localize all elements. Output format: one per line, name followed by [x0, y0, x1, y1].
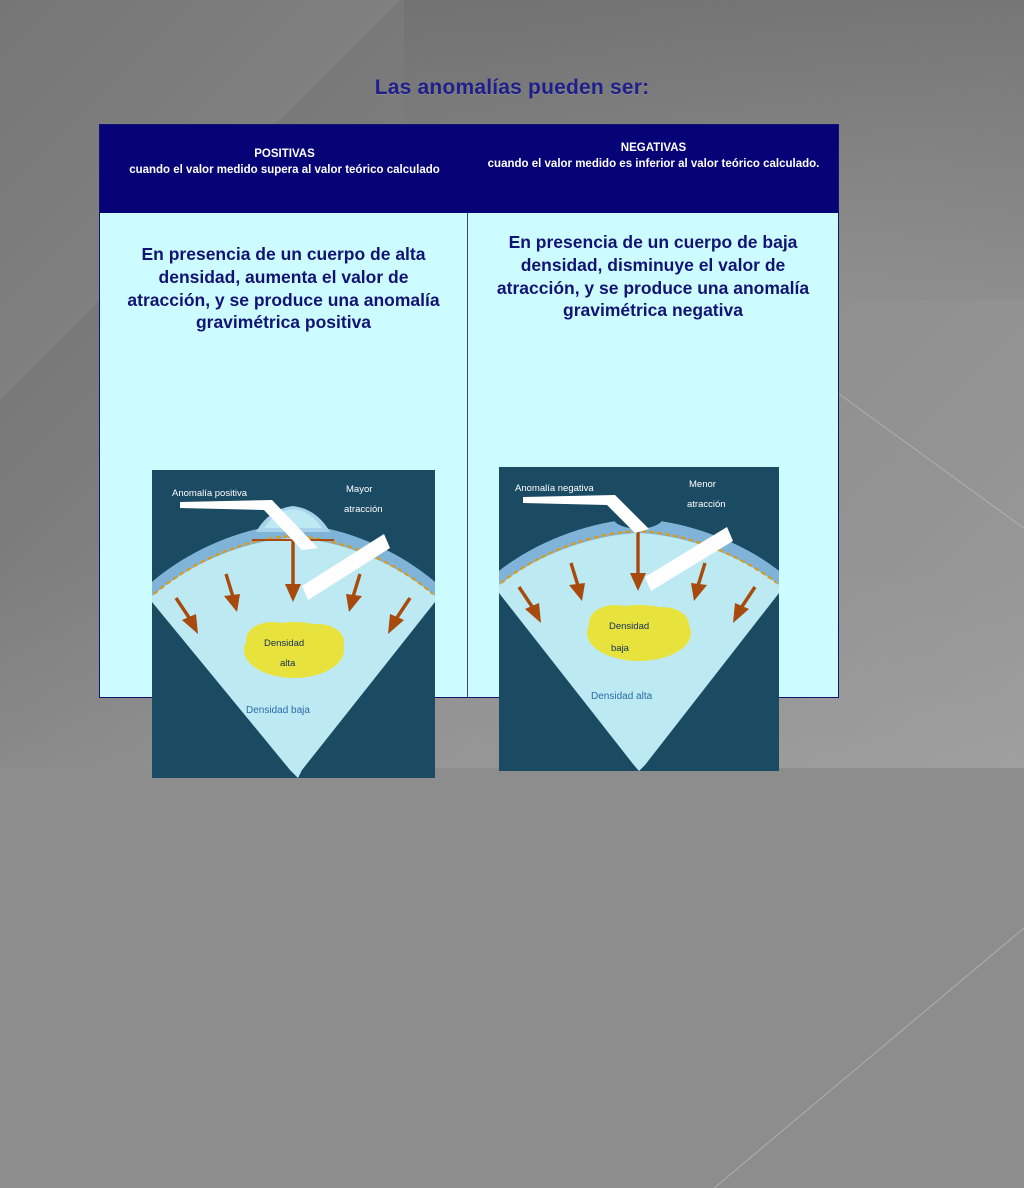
panel-positive: En presencia de un cuerpo de alta densid…	[100, 213, 467, 697]
figure-negative-attraction-label-line2: atracción	[687, 499, 726, 510]
figure-negative-body-label-line1: Densidad	[609, 621, 649, 632]
page-title: Las anomalías pueden ser:	[0, 76, 1024, 100]
figure-negative-body-label-line2: baja	[611, 643, 630, 654]
header-negative-definition: cuando el valor medido es inferior al va…	[488, 158, 820, 170]
figure-positive-anomaly-label: Anomalía positiva	[172, 488, 248, 499]
card-body: En presencia de un cuerpo de alta densid…	[100, 213, 838, 697]
header-positive-kind: POSITIVAS	[118, 147, 451, 162]
figure-positive-mantle-label: Densidad baja	[246, 705, 310, 716]
background-diagonal-line-a	[714, 827, 1024, 1188]
figure-positive-body-label-line1: Densidad	[264, 638, 304, 649]
comparison-card: POSITIVAS cuando el valor medido supera …	[99, 124, 839, 698]
figure-negative-attraction-label-line1: Menor	[689, 479, 716, 490]
figure-negative-anomaly-label: Anomalía negativa	[515, 483, 594, 494]
figure-positive-attraction-label-line1: Mayor	[346, 484, 372, 495]
figure-negative-mantle-label: Densidad alta	[591, 691, 653, 702]
header-positive-definition: cuando el valor medido supera al valor t…	[129, 164, 440, 176]
figure-positive-body-label-line2: alta	[280, 658, 296, 669]
header-cell-positive: POSITIVAS cuando el valor medido supera …	[100, 125, 469, 213]
figure-negative-anomaly: Anomalía negativa Menor atracción Densid…	[499, 467, 779, 771]
header-cell-negative: NEGATIVAS cuando el valor medido es infe…	[469, 125, 838, 213]
panel-negative-text: En presencia de un cuerpo de baja densid…	[468, 213, 838, 322]
header-negative-kind: NEGATIVAS	[487, 141, 820, 156]
figure-positive-attraction-label-line2: atracción	[344, 504, 383, 515]
panel-negative: En presencia de un cuerpo de baja densid…	[467, 213, 838, 697]
figure-positive-anomaly: Anomalía positiva Mayor atracción Densid…	[152, 470, 435, 778]
card-header: POSITIVAS cuando el valor medido supera …	[100, 125, 838, 213]
panel-positive-text: En presencia de un cuerpo de alta densid…	[100, 213, 467, 334]
